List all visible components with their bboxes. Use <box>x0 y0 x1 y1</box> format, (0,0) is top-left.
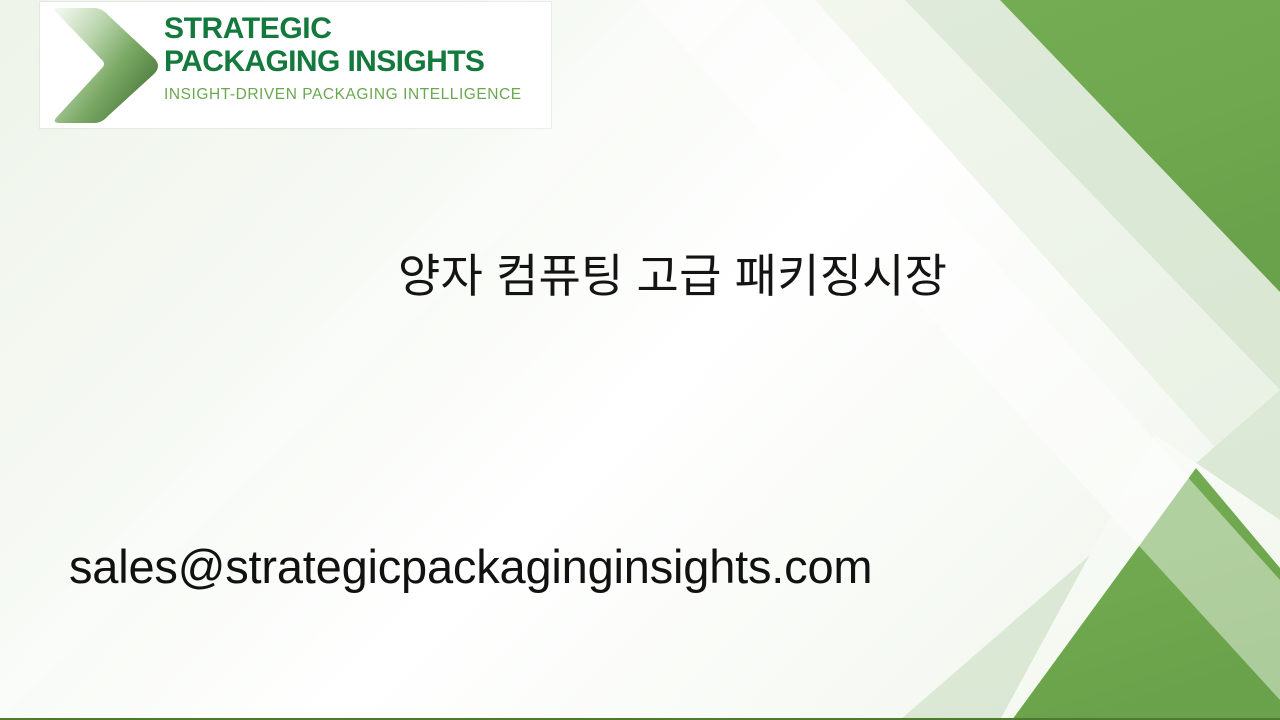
slide-headline: 양자 컴퓨팅 고급 패키징시장 <box>398 247 947 305</box>
brand-name-line-1: STRATEGIC <box>164 12 549 45</box>
chevron-arrow-icon <box>50 6 162 124</box>
contact-email[interactable]: sales@strategicpackaginginsights.com <box>69 538 872 596</box>
brand-logo: STRATEGIC PACKAGING INSIGHTS INSIGHT-DRI… <box>40 2 551 128</box>
title-slide: STRATEGIC PACKAGING INSIGHTS INSIGHT-DRI… <box>0 0 1280 720</box>
brand-logo-text: STRATEGIC PACKAGING INSIGHTS INSIGHT-DRI… <box>164 12 549 104</box>
brand-tagline: INSIGHT-DRIVEN PACKAGING INTELLIGENCE <box>164 86 549 104</box>
brand-name-line-2: PACKAGING INSIGHTS <box>164 45 549 78</box>
